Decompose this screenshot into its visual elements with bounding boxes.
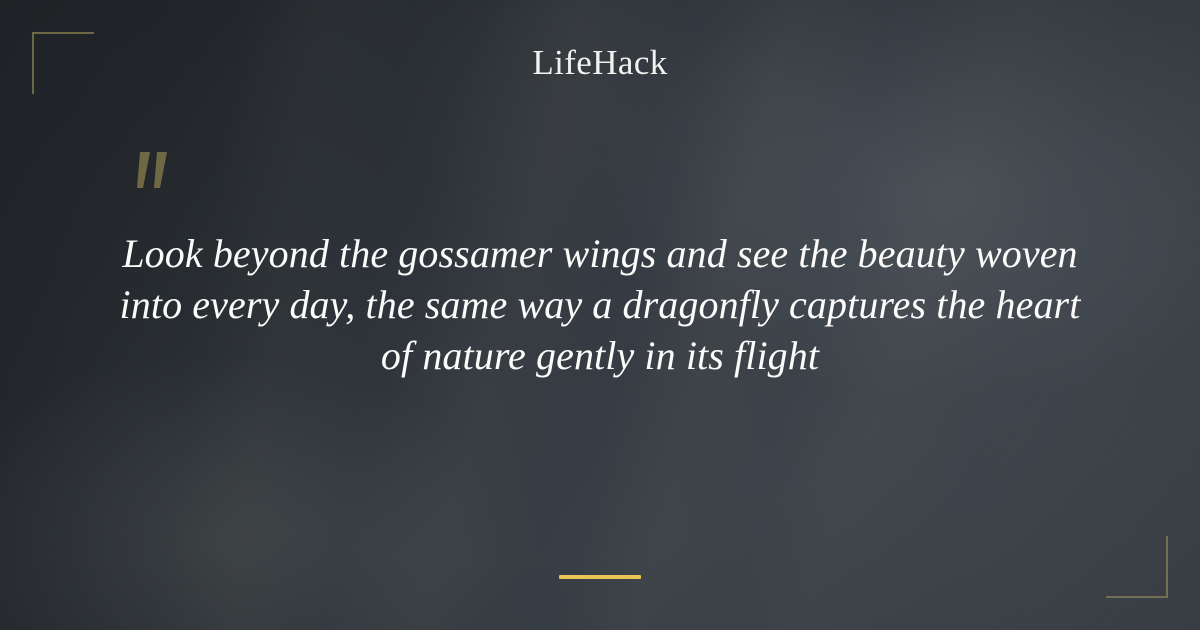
- quote-text: Look beyond the gossamer wings and see t…: [90, 228, 1110, 381]
- quote-line: Look beyond the gossamer wings and see t…: [90, 228, 1110, 279]
- quote-line: of nature gently in its flight: [90, 330, 1110, 381]
- gold-divider: [559, 575, 641, 579]
- brand-logo: LifeHack: [0, 42, 1200, 84]
- quote-line: into every day, the same way a dragonfly…: [90, 279, 1110, 330]
- corner-bracket-bottom-right-icon: [1106, 536, 1168, 598]
- quote-card: LifeHack Look beyond the gossamer wings …: [0, 0, 1200, 630]
- quotation-mark-icon: [130, 150, 176, 200]
